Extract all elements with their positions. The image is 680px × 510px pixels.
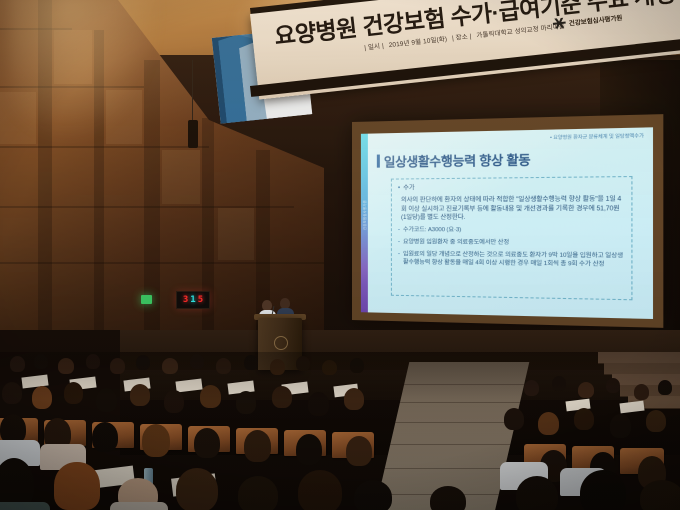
exit-sign-icon	[141, 295, 152, 304]
audience-seating-area	[0, 352, 680, 510]
banner-place-label: | 장소 |	[452, 33, 472, 42]
banner-title: 요양병원 건강보험 수가·급여기준 주요 개정사	[273, 0, 680, 51]
bullet-text: 입원료의 일당 개념으로 산정하는 것으로 의료중도 환자가 9박 10일을 입…	[403, 250, 625, 269]
bullet-marker: -	[398, 226, 400, 234]
slide-title-marker	[377, 155, 380, 168]
hanging-speaker	[188, 120, 198, 148]
slide-bullet: - 입원료의 일당 개념으로 산정하는 것으로 의료중도 환자가 9박 10일을…	[398, 250, 625, 269]
audience-torso	[0, 502, 50, 510]
audience-torso	[110, 502, 168, 510]
timer-digit-3: 5	[198, 296, 203, 305]
slide-bullet: 의사의 판단하에 환자의 상태에 따라 적합한 "일상생활수행능력 향상 활동"…	[398, 195, 625, 223]
countdown-timer-display: 3 1 5	[176, 291, 210, 309]
bullet-marker: -	[398, 238, 400, 246]
bullet-text: 의사의 판단하에 환자의 상태에 따라 적합한 "일상생활수행능력 향상 활동"…	[401, 195, 625, 223]
slide-title-row: 일상생활수행능력 향상 활동	[377, 149, 531, 171]
timer-digit-1: 3	[183, 296, 188, 305]
wall-wash-light	[8, 0, 158, 140]
slide-header-note: • 요양병원 환자군 분류체계 및 일당정액수가	[550, 133, 644, 141]
organization-name: 건강보험심사평가원	[568, 11, 623, 27]
bullet-marker: -	[398, 250, 400, 267]
speaker-suspension-wire	[192, 60, 193, 122]
slide-side-label: 건강보험심사평가원	[362, 170, 367, 230]
slide-content-box: • 수가 의사의 판단하에 환자의 상태에 따라 적합한 "일상생활수행능력 향…	[391, 176, 633, 300]
slide-bullet: - 수가코드: A3000 (요·3)	[398, 226, 625, 235]
handout-paper	[175, 378, 202, 392]
slide-bullet: • 수가	[398, 182, 625, 193]
podium-emblem-icon	[274, 336, 288, 350]
hira-logo-icon	[552, 16, 566, 30]
banner-date-value: 2019년 9월 10일(화)	[388, 36, 447, 49]
banner-date-label: | 일시 |	[364, 43, 384, 52]
bullet-marker: •	[398, 185, 400, 194]
slide-bullet: - 요양병원 입원환자 중 의료중도에서만 산정	[398, 238, 625, 248]
presentation-slide: 건강보험심사평가원 • 요양병원 환자군 분류체계 및 일당정액수가 일상생활수…	[361, 127, 653, 319]
bullet-text: 요양병원 입원환자 중 의료중도에서만 산정	[403, 238, 509, 247]
slide-title: 일상생활수행능력 향상 활동	[384, 149, 531, 171]
auditorium-photo: 요양병원 건강보험 수가·급여기준 주요 개정사 | 일시 |2019년 9월 …	[0, 0, 680, 510]
timer-digit-2: 1	[190, 296, 195, 305]
projection-screen: 건강보험심사평가원 • 요양병원 환자군 분류체계 및 일당정액수가 일상생활수…	[352, 114, 663, 328]
bullet-text: 수가코드: A3000 (요·3)	[403, 226, 461, 235]
bullet-text: 수가	[403, 184, 414, 193]
